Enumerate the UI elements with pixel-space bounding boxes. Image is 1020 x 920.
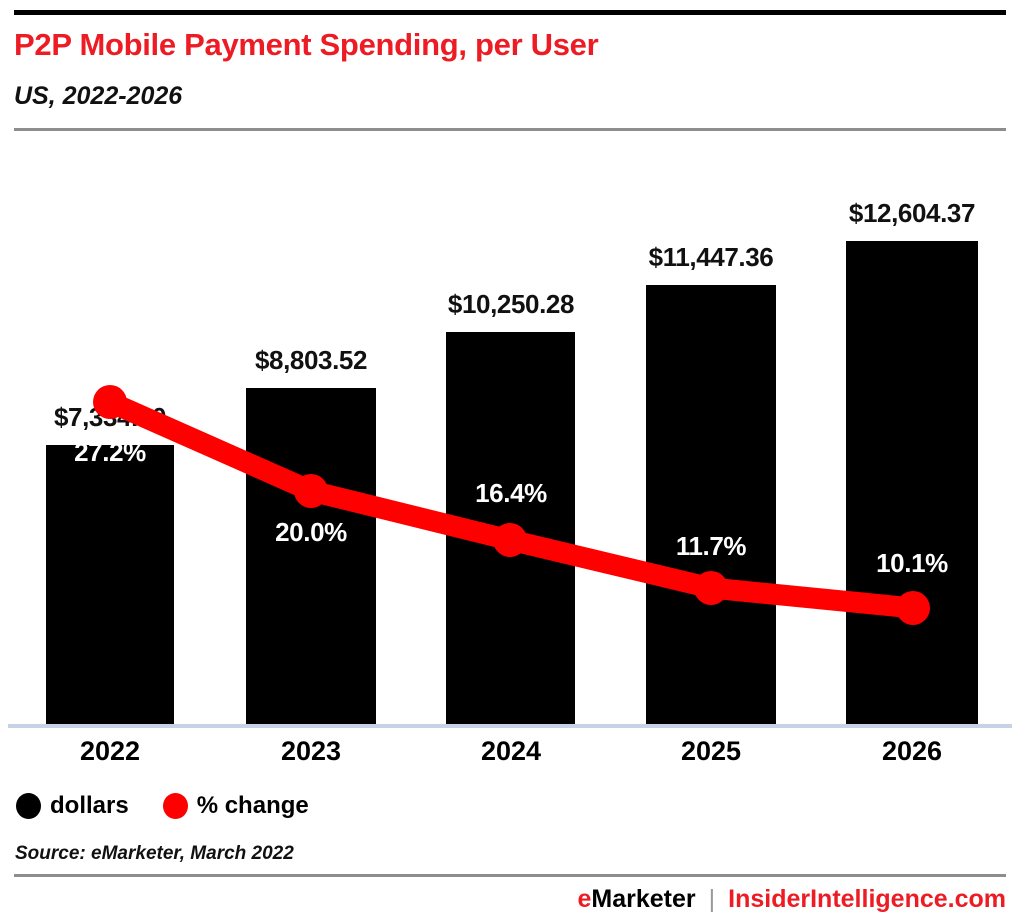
x-tick-2024: 2024 (431, 736, 591, 767)
pct-value-2023: 20.0% (231, 517, 391, 548)
x-tick-2022: 2022 (30, 736, 190, 767)
brand-site-link[interactable]: InsiderIntelligence.com (728, 884, 1006, 914)
chart-legend: dollars % change (16, 793, 309, 819)
legend-item-percent-change[interactable]: % change (163, 793, 309, 819)
footer-divider (14, 874, 1006, 877)
bar-value-2025: $11,447.36 (620, 242, 802, 273)
x-axis-line (8, 724, 1012, 728)
legend-item-dollars[interactable]: dollars (16, 793, 129, 819)
brand-marketer-word: Marketer (591, 885, 695, 913)
legend-dot-dollars-icon (16, 793, 41, 819)
x-tick-2023: 2023 (231, 736, 391, 767)
legend-label-dollars: dollars (50, 793, 129, 819)
bar-2025 (646, 285, 776, 725)
bar-value-2026: $12,604.37 (821, 198, 1003, 229)
bar-2023 (246, 388, 376, 725)
pct-value-2025: 11.7% (631, 531, 791, 562)
pct-value-2022: 27.2% (30, 437, 190, 468)
plot-area: $7,334.60 $8,803.52 $10,250.28 $11,447.3… (0, 0, 1020, 920)
pct-value-2024: 16.4% (431, 478, 591, 509)
pct-value-2026: 10.1% (832, 548, 992, 579)
bar-2024 (446, 332, 575, 725)
bar-value-2023: $8,803.52 (231, 345, 391, 376)
legend-dot-percent-change-icon (163, 793, 188, 819)
brand-emarketer[interactable]: eMarketer (578, 884, 696, 914)
source-note: Source: eMarketer, March 2022 (15, 843, 294, 865)
legend-label-percent-change: % change (197, 793, 309, 819)
brand-separator: | (709, 884, 716, 914)
bar-2022 (46, 445, 174, 725)
bar-value-2024: $10,250.28 (420, 289, 602, 320)
x-tick-2026: 2026 (832, 736, 992, 767)
chart-page: P2P Mobile Payment Spending, per User US… (0, 0, 1020, 920)
bar-2026 (846, 241, 978, 725)
brand-bar: eMarketer | InsiderIntelligence.com (578, 884, 1007, 914)
x-tick-2025: 2025 (631, 736, 791, 767)
brand-e-letter: e (578, 885, 592, 913)
bar-value-2022: $7,334.60 (30, 402, 190, 433)
